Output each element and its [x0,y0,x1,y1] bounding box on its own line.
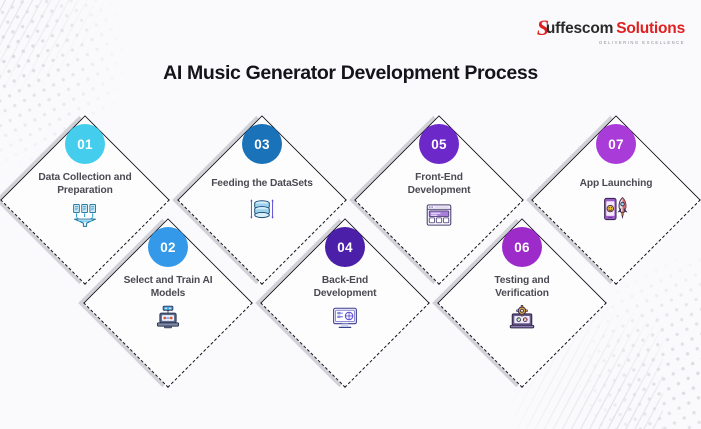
step-number-badge: 04 [325,227,365,267]
process-step-01[interactable]: Data Collection and Preparation 01 [25,140,145,260]
process-step-06[interactable]: Testing and Verification [462,243,582,363]
process-step-05[interactable]: Front-End Development 05 [379,140,499,260]
step-number-badge: 07 [596,124,636,164]
step-number-badge: 01 [65,124,105,164]
process-step-07[interactable]: App Launching 07 [556,140,676,260]
step-number-badge: 06 [502,227,542,267]
step-number-badge: 02 [148,227,188,267]
step-number-badge: 05 [419,124,459,164]
step-number-badge: 03 [242,124,282,164]
process-step-03[interactable]: Feeding the DataSets 03 [202,140,322,260]
process-step-04[interactable]: Back-End Development 04 [285,243,405,363]
process-flow: Data Collection and Preparation 01Select… [0,0,701,429]
process-step-02[interactable]: Select and Train AI Models 02 [108,243,228,363]
